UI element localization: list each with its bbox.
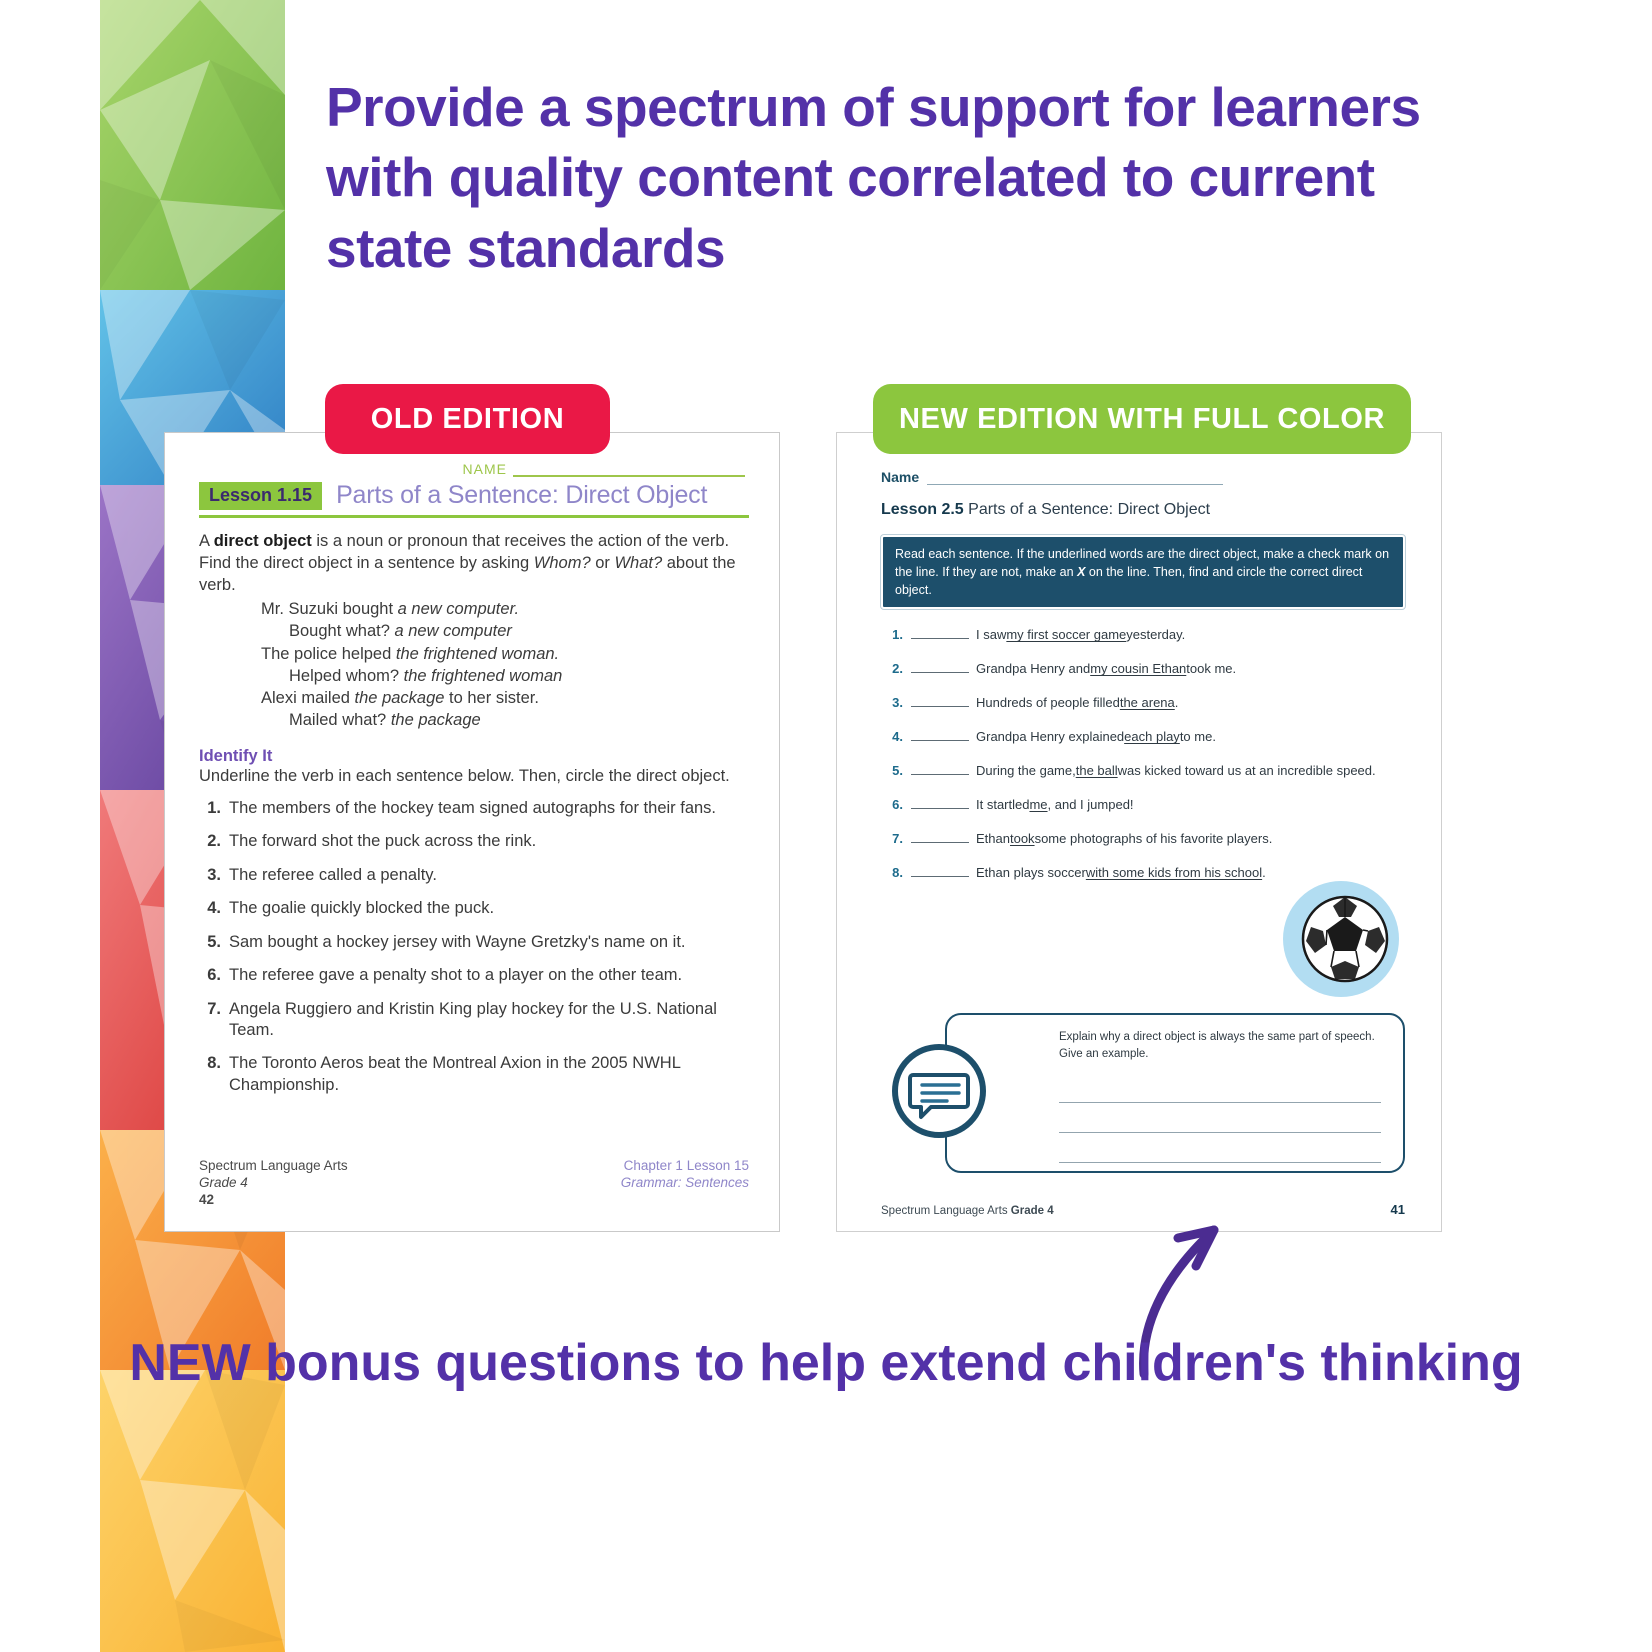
list-item: 1.The members of the hockey team signed … bbox=[199, 798, 749, 819]
new-name-field-row: Name bbox=[881, 461, 1405, 485]
list-item: 7.Ethan took some photographs of his fav… bbox=[881, 831, 1405, 846]
new-question-list: 1.I saw my first soccer game yesterday. … bbox=[881, 627, 1405, 880]
list-item: 3.Hundreds of people filled the arena. bbox=[881, 695, 1405, 710]
old-name-label: NAME bbox=[463, 461, 507, 477]
new-instruction-banner: Read each sentence. If the underlined wo… bbox=[881, 535, 1405, 609]
old-header-rule bbox=[199, 515, 749, 518]
new-lesson-label: Lesson 2.5 bbox=[881, 501, 964, 518]
old-section-heading: Identify It bbox=[199, 747, 749, 766]
new-edition-worksheet-page: Name Lesson 2.5 Parts of a Sentence: Dir… bbox=[836, 432, 1442, 1232]
list-item: 5.During the game, the ball was kicked t… bbox=[881, 763, 1405, 778]
answer-blank[interactable] bbox=[911, 763, 969, 775]
answer-line[interactable] bbox=[1059, 1133, 1381, 1163]
list-item: 6.The referee gave a penalty shot to a p… bbox=[199, 965, 749, 986]
list-item: 8.The Toronto Aeros beat the Montreal Ax… bbox=[199, 1053, 749, 1096]
old-section-directions: Underline the verb in each sentence belo… bbox=[199, 767, 749, 786]
list-item: 5.Sam bought a hockey jersey with Wayne … bbox=[199, 932, 749, 953]
new-footer-grade: Grade 4 bbox=[1011, 1205, 1054, 1217]
old-footer-book-title: Spectrum Language Arts bbox=[199, 1158, 348, 1175]
answer-blank[interactable] bbox=[911, 865, 969, 877]
old-page-footer: Spectrum Language Arts Grade 4 42 Chapte… bbox=[199, 1158, 749, 1209]
new-name-write-line bbox=[927, 484, 1223, 485]
bonus-question-text: Explain why a direct object is always th… bbox=[1059, 1029, 1381, 1062]
new-footer-book-title: Spectrum Language Arts bbox=[881, 1205, 1011, 1217]
soccer-ball-icon bbox=[1283, 881, 1399, 997]
old-lesson-header: Lesson 1.15 Parts of a Sentence: Direct … bbox=[199, 481, 749, 510]
old-lesson-title: Parts of a Sentence: Direct Object bbox=[336, 481, 707, 510]
speech-bubble-icon bbox=[891, 1043, 987, 1139]
list-item: 2.The forward shot the puck across the r… bbox=[199, 831, 749, 852]
list-item: 4.The goalie quickly blocked the puck. bbox=[199, 898, 749, 919]
answer-blank[interactable] bbox=[911, 831, 969, 843]
old-footer-topic: Grammar: Sentences bbox=[621, 1175, 749, 1192]
old-examples-block: Mr. Suzuki bought a new computer. Bought… bbox=[199, 598, 749, 731]
list-item: 2.Grandpa Henry and my cousin Ethan took… bbox=[881, 661, 1405, 676]
old-name-write-line bbox=[513, 475, 745, 477]
new-name-label: Name bbox=[881, 469, 919, 485]
bottom-caption: NEW bonus questions to help extend child… bbox=[0, 1330, 1652, 1398]
old-question-list: 1.The members of the hockey team signed … bbox=[199, 798, 749, 1096]
new-lesson-header: Lesson 2.5 Parts of a Sentence: Direct O… bbox=[881, 501, 1405, 519]
answer-blank[interactable] bbox=[911, 627, 969, 639]
soccer-ball-illustration bbox=[1283, 881, 1399, 997]
page-headline: Provide a spectrum of support for learne… bbox=[326, 72, 1446, 283]
old-footer-grade: Grade 4 bbox=[199, 1175, 348, 1192]
answer-blank[interactable] bbox=[911, 695, 969, 707]
old-lesson-tag: Lesson 1.15 bbox=[199, 482, 322, 510]
answer-blank[interactable] bbox=[911, 797, 969, 809]
bonus-answer-lines bbox=[1059, 1073, 1381, 1163]
old-edition-badge: OLD EDITION bbox=[325, 384, 610, 454]
new-lesson-title: Parts of a Sentence: Direct Object bbox=[964, 501, 1210, 518]
list-item: 7.Angela Ruggiero and Kristin King play … bbox=[199, 999, 749, 1042]
old-edition-worksheet-page: NAME Lesson 1.15 Parts of a Sentence: Di… bbox=[164, 432, 780, 1232]
new-edition-badge: NEW EDITION WITH FULL COLOR bbox=[873, 384, 1411, 454]
list-item: 4.Grandpa Henry explained each play to m… bbox=[881, 729, 1405, 744]
answer-blank[interactable] bbox=[911, 729, 969, 741]
answer-line[interactable] bbox=[1059, 1073, 1381, 1103]
list-item: 3.The referee called a penalty. bbox=[199, 865, 749, 886]
new-footer-page-number: 41 bbox=[1391, 1202, 1405, 1217]
list-item: 1.I saw my first soccer game yesterday. bbox=[881, 627, 1405, 642]
answer-blank[interactable] bbox=[911, 661, 969, 673]
old-footer-chapter: Chapter 1 Lesson 15 bbox=[621, 1158, 749, 1175]
old-intro-term: direct object bbox=[214, 532, 312, 550]
answer-line[interactable] bbox=[1059, 1103, 1381, 1133]
old-name-field-row: NAME bbox=[199, 455, 749, 477]
old-footer-page-number: 42 bbox=[199, 1192, 348, 1209]
old-intro-paragraph: A direct object is a noun or pronoun tha… bbox=[199, 530, 749, 596]
list-item: 8.Ethan plays soccer with some kids from… bbox=[881, 865, 1405, 880]
list-item: 6.It startled me, and I jumped! bbox=[881, 797, 1405, 812]
bonus-question-box: Explain why a direct object is always th… bbox=[945, 1013, 1405, 1173]
